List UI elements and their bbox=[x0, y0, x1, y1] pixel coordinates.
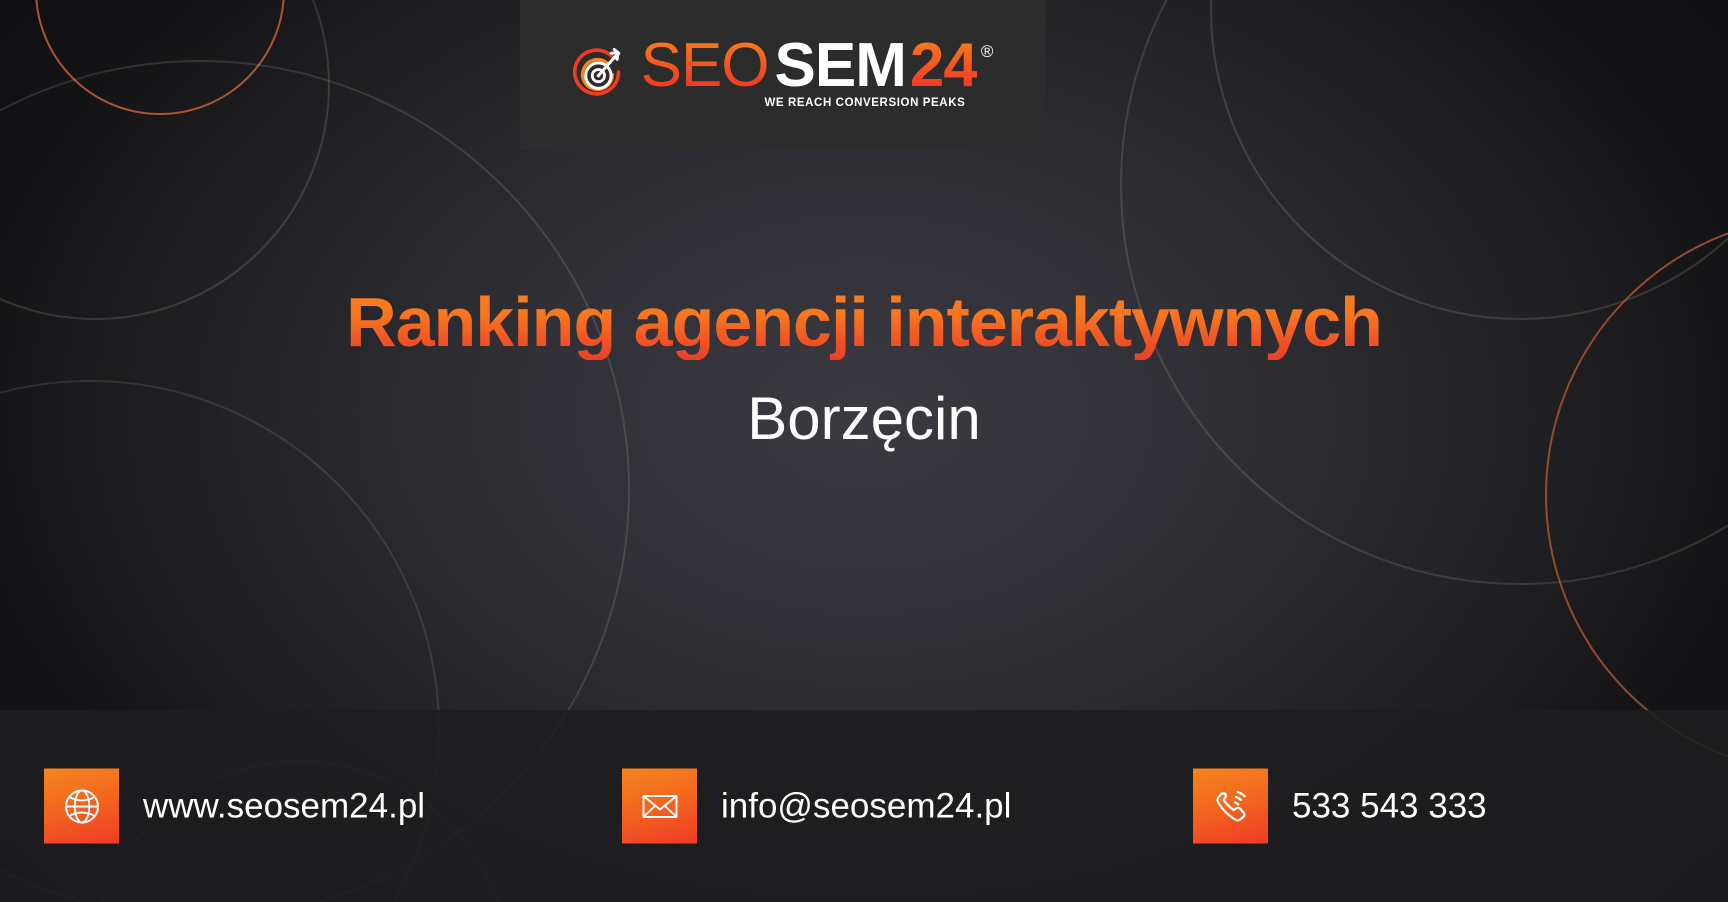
logo-wordmark: SEO SEM 24 ® WE REACH CONVERSION PEAKS bbox=[641, 37, 994, 110]
logo-word-sem: SEM bbox=[775, 37, 906, 96]
logo-tagline: WE REACH CONVERSION PEAKS bbox=[641, 97, 994, 109]
contact-phone[interactable]: 533 543 333 bbox=[1193, 769, 1487, 844]
email-text: info@seosem24.pl bbox=[721, 786, 1011, 826]
contact-footer: www.seosem24.pl info@seosem24.pl bbox=[0, 710, 1728, 902]
page-subtitle: Borzęcin bbox=[0, 386, 1728, 452]
hero-section: Ranking agencji interaktywnych Borzęcin bbox=[0, 286, 1728, 452]
phone-icon bbox=[1193, 769, 1268, 844]
page-title: Ranking agencji interaktywnych bbox=[0, 286, 1728, 360]
target-arrow-icon bbox=[573, 45, 629, 101]
logo-word-seo: SEO bbox=[641, 37, 769, 96]
website-text: www.seosem24.pl bbox=[143, 786, 425, 826]
logo-plate: SEO SEM 24 ® WE REACH CONVERSION PEAKS bbox=[520, 0, 1046, 150]
brand-logo[interactable]: SEO SEM 24 ® WE REACH CONVERSION PEAKS bbox=[573, 37, 994, 110]
contact-website[interactable]: www.seosem24.pl bbox=[44, 769, 425, 844]
registered-mark: ® bbox=[981, 43, 994, 60]
contact-email[interactable]: info@seosem24.pl bbox=[622, 769, 1011, 844]
decorative-circle-grey-top-left bbox=[0, 0, 330, 320]
decorative-circle-grey-top-right bbox=[1210, 0, 1728, 320]
decorative-circle-orange-top-left bbox=[35, 0, 285, 115]
logo-word-24: 24 bbox=[910, 37, 977, 96]
globe-icon bbox=[44, 769, 119, 844]
envelope-icon bbox=[622, 769, 697, 844]
slide-canvas: SEO SEM 24 ® WE REACH CONVERSION PEAKS R… bbox=[0, 0, 1728, 902]
logo-word-row: SEO SEM 24 ® bbox=[641, 37, 994, 96]
phone-text: 533 543 333 bbox=[1292, 786, 1487, 826]
